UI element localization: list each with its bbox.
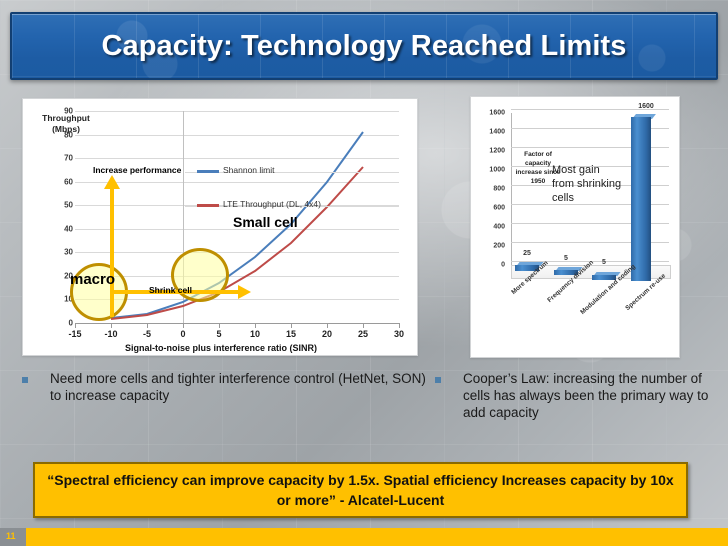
x-tick-mark-4 [219, 323, 220, 328]
bar-y-tick-1200: 1200 [477, 148, 505, 155]
x-tick-minus15: -15 [68, 329, 81, 339]
y-tick-30: 30 [49, 248, 73, 257]
bar-y-tick-1600: 1600 [477, 110, 505, 117]
x-tick-5: 5 [216, 329, 221, 339]
x-tick-minus10: -10 [104, 329, 117, 339]
legend-label-shannon-limit: Shannon limit [223, 165, 275, 175]
bar-y-tick-400: 400 [477, 224, 505, 231]
annotation-small-cell: Small cell [233, 214, 298, 230]
legend-swatch-shannon-limit [197, 170, 219, 173]
line-chart-panel: Throughput (Mbps) 90 80 70 60 50 40 30 2… [22, 98, 418, 356]
bar-y-tick-1400: 1400 [477, 129, 505, 136]
bullet-square-icon [435, 377, 441, 383]
line-chart-x-axis [75, 323, 399, 324]
y-tick-70: 70 [49, 154, 73, 163]
x-tick-mark-0 [75, 323, 76, 328]
x-tick-25: 25 [358, 329, 368, 339]
slide-title-bar: Capacity: Technology Reached Limits [10, 12, 718, 80]
bar-y-tick-200: 200 [477, 243, 505, 250]
x-tick-mark-8 [363, 323, 364, 328]
y-tick-60: 60 [49, 177, 73, 186]
x-tick-mark-7 [327, 323, 328, 328]
bar-value-spectrum-re-use: 1600 [638, 103, 654, 110]
x-tick-mark-3 [183, 323, 184, 328]
x-tick-30: 30 [394, 329, 404, 339]
y-tick-40: 40 [49, 224, 73, 233]
bar-y-tick-600: 600 [477, 205, 505, 212]
x-tick-mark-1 [111, 323, 112, 328]
bar-spectrum-re-use [631, 117, 651, 281]
line-chart-plot-area: 90 80 70 60 50 40 30 20 10 0 [75, 111, 399, 323]
bullet-left-text: Need more cells and tighter interference… [50, 370, 427, 404]
annotation-most-gain: Most gain from shrinking cells [552, 163, 624, 205]
increase-performance-arrow-shaft [110, 187, 114, 317]
page-title: Capacity: Technology Reached Limits [12, 14, 716, 78]
increase-performance-arrow-head [104, 175, 120, 189]
annotation-macro: macro [70, 271, 115, 288]
bullet-item-right: Cooper’s Law: increasing the number of c… [435, 370, 720, 421]
y-tick-90: 90 [49, 107, 73, 116]
x-tick-minus5: -5 [143, 329, 151, 339]
x-tick-10: 10 [250, 329, 260, 339]
bar-value-more-spectrum: 25 [523, 250, 531, 257]
bullet-square-icon [22, 377, 28, 383]
bar-chart-panel: 1600 1400 1200 1000 800 600 400 200 0 25… [470, 96, 680, 358]
series-lte-throughput [111, 167, 363, 319]
x-tick-mark-5 [255, 323, 256, 328]
bar-value-frequency-division: 5 [564, 255, 568, 262]
x-tick-mark-9 [399, 323, 400, 328]
bar-y-tick-800: 800 [477, 186, 505, 193]
bar-y-tick-1000: 1000 [477, 167, 505, 174]
bar-y-tick-0: 0 [477, 262, 505, 269]
legend-swatch-lte-throughput [197, 204, 219, 207]
quote-text: “Spectral efficiency can improve capacit… [35, 470, 686, 510]
legend-label-lte-throughput: LTE Throughput (DL, 4x4) [223, 199, 321, 209]
x-tick-20: 20 [322, 329, 332, 339]
footer-accent-bar [0, 528, 728, 546]
bar-value-modulation-and-coding: 5 [602, 259, 606, 266]
y-tick-50: 50 [49, 201, 73, 210]
shrink-cell-arrow-head [238, 285, 251, 299]
x-tick-0: 0 [180, 329, 185, 339]
y-tick-80: 80 [49, 130, 73, 139]
y-tick-0: 0 [49, 319, 73, 328]
x-tick-mark-6 [291, 323, 292, 328]
x-tick-15: 15 [286, 329, 296, 339]
line-chart-x-axis-title: Signal-to-noise plus interference ratio … [23, 343, 419, 353]
slide-canvas: Capacity: Technology Reached Limits Thro… [0, 0, 728, 546]
annotation-shrink-cell: Shrink cell [149, 285, 192, 295]
bullet-item-left: Need more cells and tighter interference… [22, 370, 427, 404]
slide-number: 11 [6, 531, 16, 541]
annotation-increase-performance: Increase performance [93, 165, 181, 175]
x-tick-mark-2 [147, 323, 148, 328]
quote-callout-box: “Spectral efficiency can improve capacit… [33, 462, 688, 518]
bullet-right-text: Cooper’s Law: increasing the number of c… [463, 370, 720, 421]
